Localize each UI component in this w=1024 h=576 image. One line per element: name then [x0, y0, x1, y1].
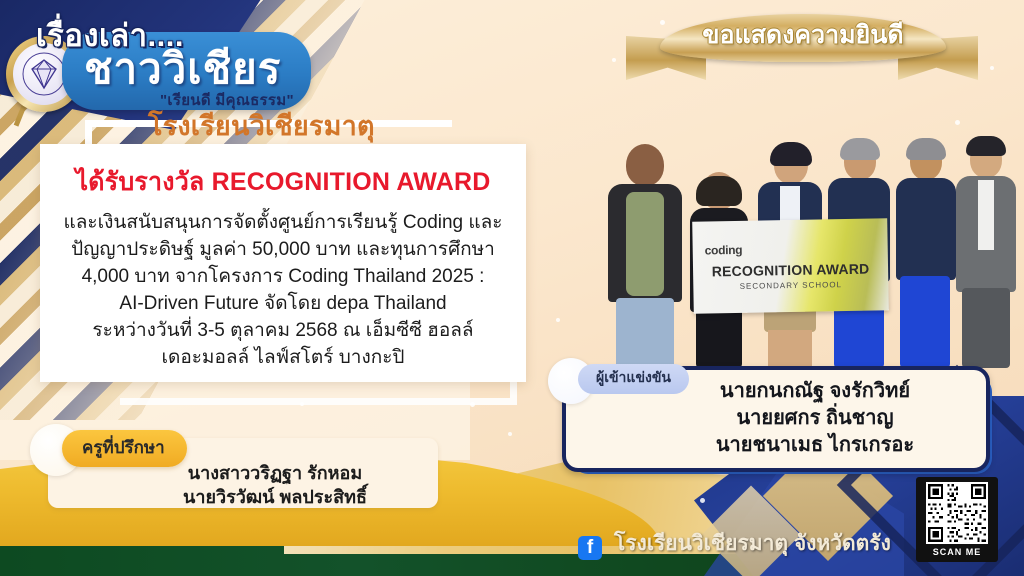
certificate-title: RECOGNITION AWARD [712, 261, 870, 280]
sparkle-dot [955, 120, 960, 125]
photo-person-hair [840, 138, 880, 160]
award-body-line: 4,000 บาท จากโครงการ Coding Thailand 202… [54, 264, 512, 291]
award-body-line: และเงินสนับสนุนการจัดตั้งศูนย์การเรียนรู… [54, 210, 512, 237]
sparkle-dot [990, 66, 994, 70]
photo-person-legs [696, 308, 742, 368]
sparkle-dot [612, 58, 616, 62]
school-name: โรงเรียนวิเชียรมาตุ [148, 104, 375, 147]
award-headline: ได้รับรางวัล RECOGNITION AWARD [54, 162, 512, 202]
award-body-line: เดอะมอลล์ ไลฟ์สโตร์ บางกะปิ [54, 345, 512, 372]
award-body-line: AI-Driven Future จัดโดย depa Thailand [54, 291, 512, 318]
ribbon-body: ขอแสดงความยินดี [660, 14, 946, 62]
photo-person-shirt [626, 192, 664, 296]
photo-person-lower-legs [768, 330, 812, 368]
facebook-page-name: โรงเรียนวิเชียรมาตุ จังหวัดตรัง [614, 527, 891, 560]
photo-person-head [626, 144, 664, 186]
ribbon-label: ขอแสดงความยินดี [702, 15, 903, 55]
photo-person-legs [900, 276, 950, 368]
certificate-brand: coding [705, 243, 743, 258]
advisor-name: นางสาววริฏฐา รักหอม [150, 462, 400, 486]
participant-name: นายยศกร ถิ่นชาญ [660, 405, 970, 432]
photo-person-legs [962, 288, 1010, 368]
sparkle-dot [300, 402, 304, 406]
photo-person-hair [770, 142, 812, 166]
photo-person-hair [966, 136, 1006, 156]
sparkle-dot [556, 318, 560, 322]
advisors-label: ครูที่ปรึกษา [82, 438, 165, 457]
facebook-glyph: f [587, 538, 593, 557]
award-body-line: ระหว่างวันที่ 3-5 ตุลาคม 2568 ณ เอ็มซีซี… [54, 318, 512, 345]
photo-person-legs [616, 298, 674, 368]
advisor-name: นายวิรวัฒน์ พลประสิทธิ์ [150, 486, 400, 510]
photo-person-hair [906, 138, 946, 160]
award-ceremony-photo: coding RECOGNITION AWARD SECONDARY SCHOO… [598, 128, 1018, 368]
qr-scan-label: SCAN ME [921, 544, 993, 560]
qr-code-block[interactable]: SCAN ME [916, 477, 998, 562]
photo-person [606, 140, 684, 368]
photo-person-shirt [978, 180, 994, 250]
photo-person-hair [696, 176, 742, 206]
qr-code-icon [926, 482, 988, 544]
facebook-icon[interactable]: f [578, 536, 602, 560]
advisors-names: นางสาววริฏฐา รักหอม นายวิรวัฒน์ พลประสิท… [150, 462, 400, 510]
photo-person-body [896, 178, 956, 280]
award-announcement-card: ได้รับรางวัล RECOGNITION AWARD และเงินสน… [40, 144, 526, 382]
certificate-subtitle: SECONDARY SCHOOL [740, 280, 843, 291]
poster-canvas: เรื่องเล่า.... ชาววิเชียร "เรียนดี มีคุณ… [0, 0, 1024, 576]
participants-names: นายกนกณัฐ จงรักวิทย์ นายยศกร ถิ่นชาญ นาย… [660, 378, 970, 458]
sparkle-dot [470, 402, 475, 407]
photo-person [956, 136, 1018, 368]
participant-name: นายกนกณัฐ จงรักวิทย์ [660, 378, 970, 405]
award-body-line: ปัญญาประดิษฐ์ มูลค่า 50,000 บาท และทุนกา… [54, 237, 512, 264]
congratulations-ribbon: ขอแสดงความยินดี [632, 8, 972, 78]
header-pretitle: เรื่องเล่า.... [36, 10, 184, 60]
sparkle-dot [508, 432, 512, 436]
participant-name: นายชนาเมธ ไกรเกรอะ [660, 432, 970, 459]
photo-person [894, 130, 960, 368]
recognition-award-certificate: coding RECOGNITION AWARD SECONDARY SCHOO… [692, 218, 889, 313]
sparkle-dot [700, 498, 705, 503]
award-body-text: และเงินสนับสนุนการจัดตั้งศูนย์การเรียนรู… [54, 210, 512, 372]
